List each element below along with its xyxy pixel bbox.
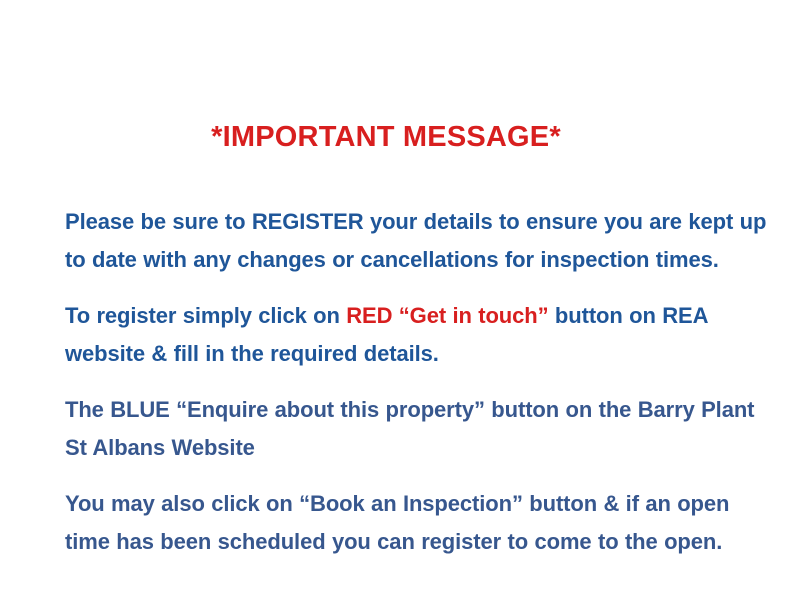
paragraph-book-an-inspection: You may also click on “Book an Inspectio… [65,485,735,560]
paragraph-line: website & fill in the required details. [65,335,735,373]
paragraph-line: to date with any changes or cancellation… [65,241,735,279]
slide-canvas: *IMPORTANT MESSAGE* Please be sure to RE… [0,0,800,600]
paragraph-barry-plant-enquire: The BLUE “Enquire about this property” b… [65,391,735,466]
paragraph-line: time has been scheduled you can register… [65,523,735,561]
message-body: Please be sure to REGISTER your details … [65,203,735,560]
paragraph-register-details: Please be sure to REGISTER your details … [65,203,735,278]
paragraph-rea-get-in-touch: To register simply click on RED “Get in … [65,297,735,372]
page-title: *IMPORTANT MESSAGE* [0,119,772,155]
text-run-before-accent: To register simply click on [65,303,346,328]
paragraph-line: St Albans Website [65,429,735,467]
paragraph-line: The BLUE “Enquire about this property” b… [65,391,735,429]
paragraph-line: You may also click on “Book an Inspectio… [65,485,735,523]
paragraph-line: Please be sure to REGISTER your details … [65,203,735,241]
accent-run-get-in-touch: RED “Get in touch” [346,303,548,328]
text-run-after-accent: button on REA [549,303,709,328]
paragraph-line: To register simply click on RED “Get in … [65,297,735,335]
